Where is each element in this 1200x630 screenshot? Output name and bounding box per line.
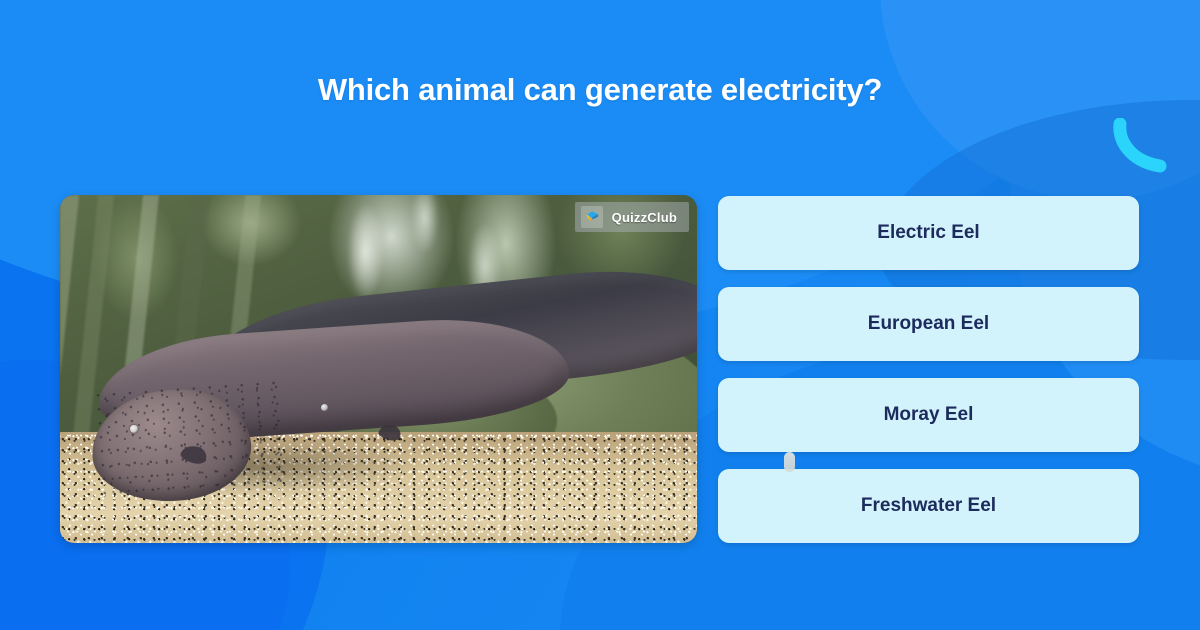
watermark: QuizzClub [575, 202, 689, 232]
answer-option-3[interactable]: Moray Eel [718, 378, 1139, 452]
quiz-card: Which animal can generate electricity? [0, 0, 1200, 630]
answer-option-3-label: Moray Eel [884, 404, 974, 426]
photo-eel-pores [95, 380, 293, 497]
answer-option-2[interactable]: European Eel [718, 287, 1139, 361]
question-image-card: QuizzClub [60, 195, 697, 543]
photo-eel-eye-secondary [321, 404, 328, 411]
page-title: Which animal can generate electricity? [0, 72, 1200, 108]
scrollbar-thumb[interactable] [784, 452, 795, 472]
answer-option-1-label: Electric Eel [877, 222, 979, 244]
answer-option-4[interactable]: Freshwater Eel [718, 469, 1139, 543]
answer-option-4-label: Freshwater Eel [861, 495, 996, 517]
answer-option-2-label: European Eel [868, 313, 989, 335]
watermark-label: QuizzClub [612, 210, 677, 225]
photo-eel-eye [130, 425, 138, 433]
electric-eel-photo [60, 195, 697, 543]
graduation-cap-icon [581, 206, 603, 228]
answer-option-1[interactable]: Electric Eel [718, 196, 1139, 270]
answer-options-list: Electric Eel European Eel Moray Eel Fres… [718, 196, 1139, 543]
